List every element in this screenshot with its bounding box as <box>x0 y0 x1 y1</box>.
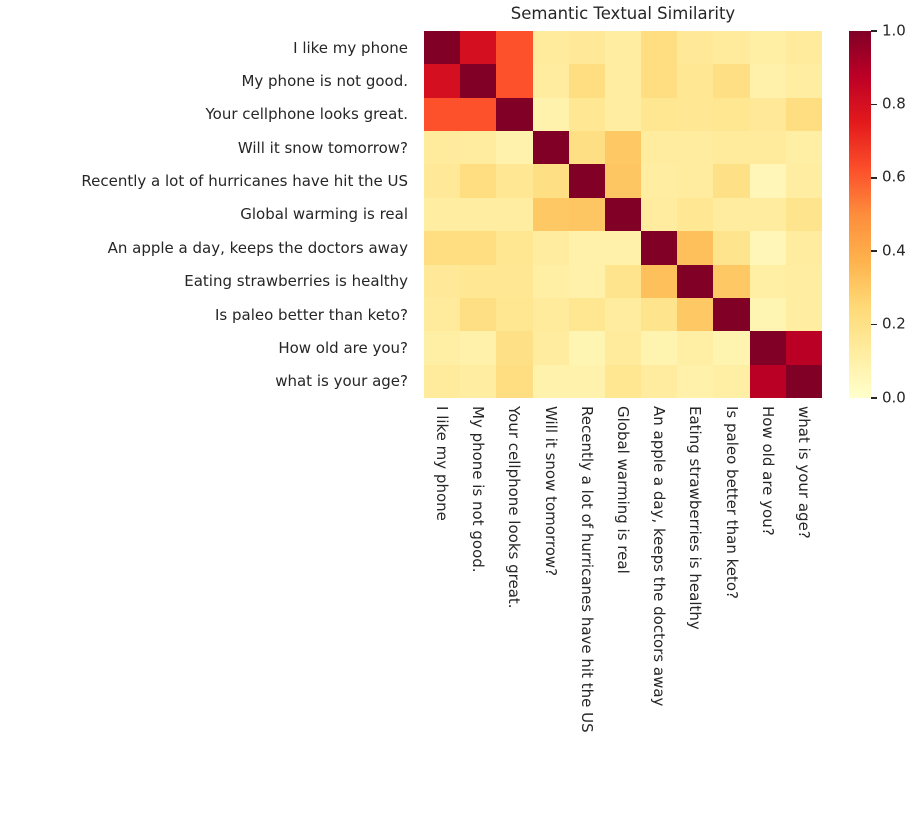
heatmap-cell <box>424 64 460 97</box>
x-axis-tick-labels: I like my phoneMy phone is not good.Your… <box>424 398 822 818</box>
heatmap-cell <box>460 265 496 298</box>
heatmap-cell <box>605 198 641 231</box>
heatmap-cell <box>460 198 496 231</box>
heatmap-cell <box>496 298 532 331</box>
colorbar-tick-text: 0.8 <box>882 96 906 111</box>
heatmap-cell <box>460 98 496 131</box>
y-axis-tick-label: Will it snow tomorrow? <box>0 131 416 164</box>
heatmap-cell <box>605 131 641 164</box>
x-axis-tick-label: what is your age? <box>795 406 813 539</box>
y-axis-tick-label: Global warming is real <box>0 198 416 231</box>
heatmap-cell <box>786 265 822 298</box>
x-axis-tick-label: I like my phone <box>433 406 451 521</box>
heatmap-cell <box>460 64 496 97</box>
colorbar-tick-text: 0.6 <box>882 170 906 185</box>
heatmap-cell <box>496 331 532 364</box>
heatmap-cell <box>786 98 822 131</box>
x-axis-tick-label: Will it snow tomorrow? <box>542 406 560 576</box>
heatmap-cell <box>424 265 460 298</box>
heatmap-cell <box>713 331 749 364</box>
x-axis-tick-slot: what is your age? <box>786 398 822 818</box>
heatmap-cell <box>713 298 749 331</box>
heatmap-cell <box>786 64 822 97</box>
heatmap-cell <box>641 298 677 331</box>
heatmap-cell <box>569 198 605 231</box>
heatmap-cell <box>786 131 822 164</box>
y-axis-tick-label: My phone is not good. <box>0 64 416 97</box>
heatmap-cell <box>677 265 713 298</box>
x-axis-tick-slot: An apple a day, keeps the doctors away <box>641 398 677 818</box>
heatmap-cell <box>713 31 749 64</box>
heatmap-cell <box>569 164 605 197</box>
heatmap-cell <box>641 31 677 64</box>
heatmap-cell <box>641 198 677 231</box>
heatmap-cell <box>641 331 677 364</box>
heatmap-cell <box>641 265 677 298</box>
heatmap-cell <box>641 365 677 398</box>
heatmap-cell <box>750 198 786 231</box>
heatmap-cell <box>460 31 496 64</box>
x-axis-tick-slot: My phone is not good. <box>460 398 496 818</box>
y-axis-tick-label: How old are you? <box>0 331 416 364</box>
colorbar-gradient <box>849 31 871 398</box>
heatmap-cell <box>713 198 749 231</box>
x-axis-tick-slot: Global warming is real <box>605 398 641 818</box>
heatmap-cell <box>533 231 569 264</box>
heatmap-cell <box>605 231 641 264</box>
colorbar-tick-text: 0.2 <box>882 317 906 332</box>
heatmap-cell <box>569 98 605 131</box>
heatmap-cell <box>677 365 713 398</box>
heatmap-cell <box>750 131 786 164</box>
heatmap-cell <box>641 98 677 131</box>
heatmap-cell <box>713 365 749 398</box>
heatmap-cell <box>677 98 713 131</box>
colorbar-tick-mark <box>871 397 877 399</box>
heatmap-cell <box>605 265 641 298</box>
heatmap-cell <box>533 131 569 164</box>
heatmap-cell <box>496 164 532 197</box>
heatmap-cell <box>786 164 822 197</box>
heatmap-cell <box>533 64 569 97</box>
heatmap-cell <box>533 331 569 364</box>
heatmap-cell <box>605 331 641 364</box>
heatmap-cell <box>496 365 532 398</box>
heatmap-cell <box>750 365 786 398</box>
heatmap-cell <box>424 164 460 197</box>
y-axis-tick-label: Your cellphone looks great. <box>0 98 416 131</box>
heatmap-cell <box>605 164 641 197</box>
y-axis-tick-label: what is your age? <box>0 365 416 398</box>
heatmap-cell <box>496 64 532 97</box>
colorbar-tick-mark <box>871 324 877 326</box>
colorbar-tick-text: 0.0 <box>882 390 906 405</box>
heatmap-cell <box>424 198 460 231</box>
heatmap-cell <box>533 98 569 131</box>
heatmap-cell <box>569 131 605 164</box>
heatmap-cell <box>786 331 822 364</box>
heatmap-cell <box>786 365 822 398</box>
x-axis-tick-slot: Recently a lot of hurricanes have hit th… <box>569 398 605 818</box>
heatmap-cell <box>605 98 641 131</box>
heatmap-cell <box>750 31 786 64</box>
y-axis-tick-labels: I like my phoneMy phone is not good.Your… <box>0 31 416 398</box>
x-axis-tick-label: Is paleo better than keto? <box>723 406 741 599</box>
heatmap-cell <box>677 31 713 64</box>
heatmap-cell <box>424 331 460 364</box>
heatmap-cell <box>460 131 496 164</box>
heatmap-cell <box>713 265 749 298</box>
x-axis-tick-slot: Will it snow tomorrow? <box>533 398 569 818</box>
heatmap-cell <box>750 64 786 97</box>
heatmap-cell <box>677 198 713 231</box>
heatmap-cell <box>496 198 532 231</box>
x-axis-tick-label: Global warming is real <box>614 406 632 574</box>
heatmap-cell <box>750 298 786 331</box>
heatmap-cell <box>496 98 532 131</box>
colorbar-tick-mark <box>871 104 877 106</box>
heatmap-cell <box>569 265 605 298</box>
heatmap-cell <box>424 298 460 331</box>
heatmap-grid <box>424 31 822 398</box>
colorbar-tick-text: 1.0 <box>882 23 906 38</box>
heatmap-cell <box>713 164 749 197</box>
x-axis-tick-label: My phone is not good. <box>469 406 487 573</box>
colorbar-tick-text: 0.4 <box>882 243 906 258</box>
x-axis-tick-label: How old are you? <box>759 406 777 536</box>
heatmap-cell <box>786 298 822 331</box>
heatmap-cell <box>641 64 677 97</box>
x-axis-tick-slot: Is paleo better than keto? <box>713 398 749 818</box>
heatmap-cell <box>605 298 641 331</box>
x-axis-tick-label: Eating strawberries is healthy <box>686 406 704 630</box>
x-axis-tick-label: Recently a lot of hurricanes have hit th… <box>578 406 596 733</box>
heatmap-cell <box>786 198 822 231</box>
heatmap-cell <box>533 198 569 231</box>
y-axis-tick-label: Recently a lot of hurricanes have hit th… <box>0 164 416 197</box>
heatmap-cell <box>605 365 641 398</box>
heatmap-cell <box>641 164 677 197</box>
heatmap-cell <box>677 231 713 264</box>
heatmap-cell <box>569 231 605 264</box>
heatmap-cell <box>750 98 786 131</box>
heatmap-cell <box>605 64 641 97</box>
x-axis-tick-label: An apple a day, keeps the doctors away <box>650 406 668 706</box>
y-axis-tick-label: Eating strawberries is healthy <box>0 265 416 298</box>
heatmap-cell <box>569 31 605 64</box>
heatmap-cell <box>750 164 786 197</box>
heatmap-cell <box>460 298 496 331</box>
heatmap-figure: Semantic Textual Similarity I like my ph… <box>0 0 915 826</box>
x-axis-tick-slot: Your cellphone looks great. <box>496 398 532 818</box>
heatmap-cell <box>460 231 496 264</box>
heatmap-cell <box>786 31 822 64</box>
heatmap-cell <box>677 164 713 197</box>
colorbar-tick-mark <box>871 250 877 252</box>
heatmap-cell <box>569 298 605 331</box>
heatmap-cell <box>496 231 532 264</box>
heatmap-cell <box>496 265 532 298</box>
heatmap-cell <box>424 365 460 398</box>
heatmap-cell <box>677 131 713 164</box>
y-axis-tick-label: Is paleo better than keto? <box>0 298 416 331</box>
heatmap-cell <box>533 31 569 64</box>
heatmap-cell <box>713 131 749 164</box>
heatmap-cell <box>750 231 786 264</box>
heatmap-cell <box>641 231 677 264</box>
colorbar: 1.00.80.60.40.20.0 <box>849 31 871 398</box>
heatmap-cell <box>533 265 569 298</box>
x-axis-tick-slot: I like my phone <box>424 398 460 818</box>
heatmap-cell <box>496 131 532 164</box>
heatmap-cell <box>569 64 605 97</box>
heatmap-cell <box>460 331 496 364</box>
heatmap-cell <box>713 64 749 97</box>
heatmap-cell <box>605 31 641 64</box>
x-axis-tick-slot: How old are you? <box>750 398 786 818</box>
colorbar-tick-mark <box>871 30 877 32</box>
heatmap-cell <box>750 265 786 298</box>
heatmap-cell <box>677 298 713 331</box>
heatmap-cell <box>750 331 786 364</box>
heatmap-cell <box>786 231 822 264</box>
heatmap-cell <box>641 131 677 164</box>
y-axis-tick-label: I like my phone <box>0 31 416 64</box>
heatmap-cell <box>533 298 569 331</box>
x-axis-tick-slot: Eating strawberries is healthy <box>677 398 713 818</box>
x-axis-tick-label: Your cellphone looks great. <box>505 406 523 609</box>
heatmap-cell <box>713 231 749 264</box>
heatmap-cell <box>677 331 713 364</box>
heatmap-cell <box>424 31 460 64</box>
heatmap-cell <box>496 31 532 64</box>
y-axis-tick-label: An apple a day, keeps the doctors away <box>0 231 416 264</box>
heatmap-cell <box>424 131 460 164</box>
heatmap-cell <box>424 231 460 264</box>
colorbar-tick-labels: 1.00.80.60.40.20.0 <box>871 31 915 398</box>
colorbar-tick-mark <box>871 177 877 179</box>
heatmap-cell <box>713 98 749 131</box>
heatmap-cell <box>460 365 496 398</box>
heatmap-cell <box>533 365 569 398</box>
page-title: Semantic Textual Similarity <box>424 4 822 23</box>
heatmap-cell <box>460 164 496 197</box>
heatmap-cell <box>677 64 713 97</box>
heatmap-cell <box>569 331 605 364</box>
heatmap-cell <box>569 365 605 398</box>
heatmap-cell <box>424 98 460 131</box>
heatmap-cell <box>533 164 569 197</box>
